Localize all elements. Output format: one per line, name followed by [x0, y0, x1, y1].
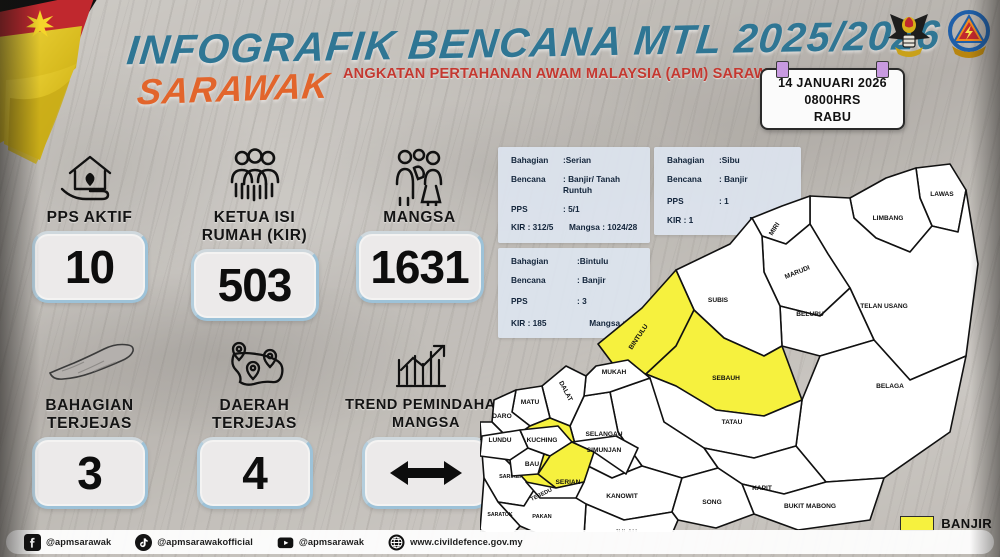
house-heart-hand-icon [12, 146, 167, 208]
stat-value: 4 [242, 450, 267, 496]
stat-label-line2: TERJEJAS [177, 415, 332, 432]
sarawak-state-crest-icon [882, 8, 936, 60]
time-text: 0800HRS [762, 92, 903, 109]
footer-bar: @apmsarawak @apmsarawakofficial @apmsara… [6, 530, 994, 554]
map-label-matu: MATU [521, 399, 540, 406]
map-label-daro: DARO [492, 413, 511, 420]
sarawak-flag-ribbon [0, 0, 114, 169]
sarawak-district-map: LAWAS LIMBANG MIRI MARUDI SUBIS BELURU T… [480, 160, 1000, 532]
footer-text: @apmsarawak [46, 537, 111, 547]
map-label-limbang: LIMBANG [873, 215, 904, 222]
map-label-kapit: KAPIT [752, 485, 772, 492]
pin-right-icon [876, 61, 889, 78]
facebook-icon[interactable] [24, 534, 41, 551]
map-legend: BANJIR [900, 516, 992, 531]
day-text: RABU [762, 109, 903, 126]
map-label-pakan: PAKAN [532, 514, 551, 520]
map-label-saratok: SARATOK [487, 512, 512, 518]
footer-text: @apmsarawakofficial [157, 537, 253, 547]
map-label-beluru: BELURU [796, 311, 824, 318]
stat-label-line2: RUMAH (KIR) [177, 227, 332, 244]
stat-value: 1631 [370, 244, 468, 290]
apm-civil-defence-crest-icon [944, 8, 994, 60]
stat-value-pill [362, 437, 490, 509]
map-label-bau: BAU [525, 461, 540, 468]
stat-value: 10 [65, 244, 114, 290]
map-label-sebauh: SEBAUH [712, 375, 740, 382]
people-group-icon [177, 146, 332, 208]
map-label-kuching: KUCHING [527, 437, 558, 444]
stat-value: 3 [77, 450, 102, 496]
stat-value-pill: 10 [32, 231, 148, 303]
pin-left-icon [776, 61, 789, 78]
map-label-song: SONG [702, 499, 721, 506]
legend-swatch-banjir [900, 516, 934, 531]
map-label-bukit-mabong: BUKIT MABONG [784, 503, 836, 510]
map-label-lawas: LAWAS [930, 191, 954, 198]
stat-mangsa: MANGSA 1631 [342, 146, 497, 303]
page-subtitle: SARAWAK [135, 65, 332, 114]
map-label-kanowit: KANOWIT [606, 493, 638, 500]
family-icon [342, 146, 497, 208]
stat-label: MANGSA [342, 209, 497, 226]
stat-ketua-isi-rumah: KETUA ISI RUMAH (KIR) 503 [177, 146, 332, 321]
map-label-belaga: BELAGA [876, 383, 904, 390]
footer-text: @apmsarawak [299, 537, 364, 547]
stat-label-line2: TERJEJAS [12, 415, 167, 432]
date-badge: 14 JANUARI 2026 0800HRS RABU [760, 68, 905, 130]
legend-label-banjir: BANJIR [941, 516, 992, 531]
sarawak-map-icon [12, 334, 167, 396]
footer-item-tiktok[interactable]: @apmsarawakofficial [135, 534, 253, 551]
map-label-lundu: LUNDU [488, 437, 511, 444]
globe-icon[interactable] [388, 534, 405, 551]
stat-bahagian-terjejas: BAHAGIAN TERJEJAS 3 [12, 334, 167, 509]
map-pins-icon [177, 334, 332, 396]
footer-item-facebook[interactable]: @apmsarawak [24, 534, 111, 551]
stat-label-line1: BAHAGIAN [12, 397, 167, 414]
footer-item-website[interactable]: www.civildefence.gov.my [388, 534, 523, 551]
stat-value-pill: 4 [197, 437, 313, 509]
map-label-subis: SUBIS [708, 297, 729, 304]
footer-item-youtube[interactable]: @apmsarawak [277, 534, 364, 551]
map-label-mukah: MUKAH [602, 369, 627, 376]
stat-value-pill: 3 [32, 437, 148, 509]
stat-label: PPS AKTIF [12, 209, 167, 226]
map-label-tatau: TATAU [722, 419, 743, 426]
infographic-poster: INFOGRAFIK BENCANA MTL 2025/2026 SARAWAK… [0, 0, 1000, 557]
stat-value: 503 [218, 262, 292, 308]
footer-text: www.civildefence.gov.my [410, 537, 523, 547]
organisation-label: ANGKATAN PERTAHANAN AWAM MALAYSIA (APM) … [343, 66, 788, 82]
stat-label-line1: KETUA ISI [177, 209, 332, 226]
double-arrow-icon [388, 458, 464, 488]
tiktok-icon[interactable] [135, 534, 152, 551]
stat-value-pill: 503 [191, 249, 319, 321]
crest-group [872, 6, 994, 62]
map-label-serian: SERIAN [556, 479, 581, 486]
map-label-telan-usang: TELAN USANG [860, 303, 908, 310]
stat-daerah-terjejas: DAERAH TERJEJAS 4 [177, 334, 332, 509]
map-label-simunjan: SIMUNJAN [587, 447, 622, 454]
youtube-icon[interactable] [277, 534, 294, 551]
stat-label-line1: DAERAH [177, 397, 332, 414]
stat-pps-aktif: PPS AKTIF 10 [12, 146, 167, 303]
stat-value-pill: 1631 [356, 231, 484, 303]
